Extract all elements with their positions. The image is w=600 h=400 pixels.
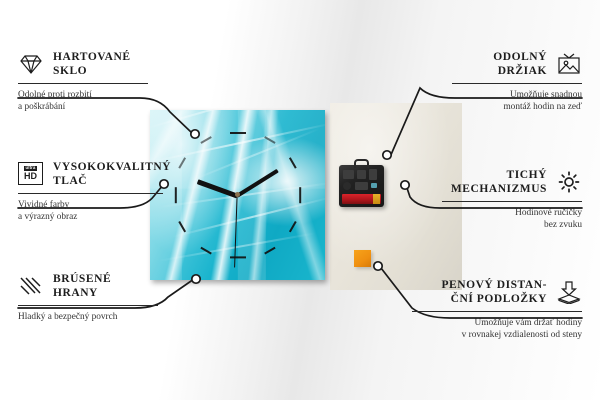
foam-spacer-arrow-icon (556, 280, 582, 304)
beveled-edges-icon (18, 274, 44, 298)
feature-foam-spacers: PENOVÝ DISTAN- ČNÍ PODLOŽKY Umožňuje vám… (412, 278, 582, 341)
feature-divider (18, 83, 148, 84)
clock-center-hub (235, 192, 240, 197)
product-infographic: HARTOVANÉ SKLO Odolné proti rozbití a po… (0, 0, 600, 400)
feature-title-line1: HARTOVANÉ (53, 50, 131, 64)
feature-title-line2: HRANY (53, 286, 111, 300)
feature-desc-line1: Hodinové ručičky (442, 207, 582, 219)
feature-hd-print: ultra HD VYSOKOKVALITNÝ TLAČ Vividné far… (18, 160, 163, 223)
feature-title-line1: VYSOKOKVALITNÝ (53, 160, 171, 174)
ultra-hd-large-label: HD (24, 172, 37, 181)
feature-divider (442, 201, 582, 202)
clock-hour-marker (230, 132, 246, 134)
clock-hour-marker (298, 187, 300, 203)
feature-desc-line2: a výrazný obraz (18, 211, 163, 223)
clock-mechanism (339, 165, 384, 207)
feature-title-line2: SKLO (53, 64, 131, 78)
feature-desc-line1: Vividné farby (18, 199, 163, 211)
battery-positive-terminal (373, 194, 380, 204)
feature-title-line1: PENOVÝ DISTAN- (441, 278, 547, 292)
clock-hour-marker (230, 256, 246, 258)
feature-hardened-glass: HARTOVANÉ SKLO Odolné proti rozbití a po… (18, 50, 148, 113)
feature-title-line1: TICHÝ (451, 168, 547, 182)
feature-desc-line1: Umožňuje snadnou (452, 89, 582, 101)
feature-desc-line1: Odolné proti rozbití (18, 89, 148, 101)
product-photo (150, 103, 462, 290)
glass-wall-clock (150, 110, 325, 280)
feature-title-line2: TLAČ (53, 174, 171, 188)
feature-desc-line2: v rovnakej vzdialenosti od steny (412, 329, 582, 341)
feature-desc-line1: Umožňuje vám držať hodiny (412, 317, 582, 329)
feature-divider (18, 193, 163, 194)
feature-durable-holder: ODOLNÝ DRŽIAK Umožňuje snadnou montáž ho… (452, 50, 582, 113)
feature-desc-line2: bez zvuku (442, 219, 582, 231)
picture-frame-hanger-icon (556, 52, 582, 76)
feature-title-line1: BRÚSENÉ (53, 272, 111, 286)
feature-title-line2: DRŽIAK (493, 64, 547, 78)
feature-desc-line2: a poškrábání (18, 101, 148, 113)
feature-divider (412, 311, 582, 312)
feature-beveled-edges: BRÚSENÉ HRANY Hladký a bezpečný povrch (18, 272, 158, 323)
feature-title-line1: ODOLNÝ (493, 50, 547, 64)
clock-hour-marker (174, 187, 176, 203)
foam-spacer-pad (354, 250, 371, 267)
feature-title-line2: MECHANIZMUS (451, 182, 547, 196)
feature-desc-line2: montáž hodin na zeď (452, 101, 582, 113)
diamond-icon (18, 52, 44, 76)
feature-silent-mechanism: TICHÝ MECHANIZMUS Hodinové ručičky bez z… (442, 168, 582, 231)
ultra-hd-icon: ultra HD (18, 162, 44, 186)
feature-desc-line1: Hladký a bezpečný povrch (18, 311, 158, 323)
feature-divider (18, 305, 158, 306)
aa-battery (342, 194, 381, 204)
mechanism-hanger-loop (354, 159, 369, 168)
feature-divider (452, 83, 582, 84)
feature-title-line2: ČNÍ PODLOŽKY (441, 292, 547, 306)
gear-icon (556, 170, 582, 194)
